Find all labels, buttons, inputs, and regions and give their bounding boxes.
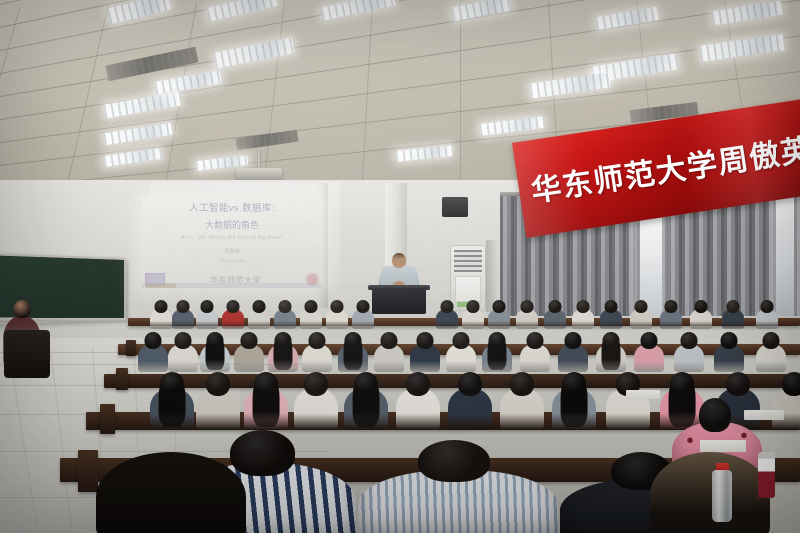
audience-head [577,300,590,313]
audience-head [562,372,586,396]
audience-head [763,332,780,349]
ceiling-light-panel [213,38,295,69]
audience-member [172,300,194,333]
slide-author: 周傲英 [224,248,240,255]
audience-head [241,332,258,349]
audience-head [467,300,480,313]
slide-author-english: Zhou Aoying [219,258,245,263]
lectern [372,288,426,314]
audience-member [268,332,298,377]
audience-head [201,300,214,313]
chair-silhouette [4,330,50,378]
audience-member [500,372,544,438]
audience-head [227,300,240,313]
audience-head [331,300,344,313]
audience-head [727,300,740,313]
audience-member [150,300,172,333]
paper-sheet [700,440,746,452]
audience-member [772,372,800,438]
audience-head [670,372,694,396]
ceiling-light-panel [320,0,395,21]
audience-member [248,300,270,333]
audience-head [160,372,184,396]
audience-head [521,300,534,313]
ceiling-light-panel [206,0,277,22]
audience-member [572,300,594,333]
audience-member [196,372,240,438]
audience-head [681,332,698,349]
audience-head [254,372,278,396]
audience-member [446,332,476,377]
ceiling-grid-line [360,0,373,210]
foreground-long-hair [96,452,246,533]
audience-head [493,300,506,313]
audience-head [206,372,230,396]
ceiling-light-panel [103,92,180,119]
ac-control-panel [455,276,481,302]
paper-sheet [744,410,784,420]
audience-head [605,300,618,313]
desk-side-panel [100,404,115,434]
audience-member [462,300,484,333]
audience-head [641,332,658,349]
audience-head [309,332,326,349]
audience-member [756,300,778,333]
ceiling-light-panel [107,0,171,24]
audience-member [244,372,288,438]
ceiling-light-panel [699,34,784,62]
banner-text: 华东师范大学周傲英教授学术报告 [528,124,800,210]
audience-head [510,372,534,396]
audience-head [761,300,774,313]
audience-member [482,332,512,377]
ceiling-grid-line [460,0,461,210]
audience-member [674,332,704,377]
audience-member [150,372,194,438]
audience-member [168,332,198,377]
audience-head [145,332,162,349]
audience-head [565,332,582,349]
audience-member [436,300,458,333]
audience-member [294,372,338,438]
slide-footer-tab [146,283,176,288]
audience-head [417,332,434,349]
audience-member [722,300,744,333]
audience-head [458,372,482,396]
slide-subtitle: 大数据的角色 [205,218,259,231]
audience-head [635,300,648,313]
audience-head [603,332,620,349]
attendee-head [14,300,31,318]
audience-head [305,300,318,313]
slide-title: 人工智能vs.数据库: [189,203,275,216]
audience-member [516,300,538,333]
attendee-head [418,440,490,482]
audience-head [527,332,544,349]
audience-head [489,332,506,349]
slide-title-english: AI vs. DB: What's the Role of Big Data? [181,235,283,241]
audience-member [600,300,622,333]
attendee-head [230,430,295,476]
audience-head [665,300,678,313]
audience-member [326,300,348,333]
audience-member [410,332,440,377]
notebook [626,390,660,399]
audience-member [756,332,786,377]
juice-bottle-red [758,452,775,498]
audience-member [552,372,596,438]
audience-member [634,332,664,377]
audience-head [695,300,708,313]
ceiling-light-panel [711,1,782,26]
audience-head [726,372,750,396]
audience-member [234,332,264,377]
desk-side-panel [116,368,128,390]
attendee-head [699,398,731,432]
audience-member [448,372,492,438]
audience-head [441,300,454,313]
audience-head [175,332,192,349]
audience-member [630,300,652,333]
audience-head [782,372,800,396]
audience-member [300,300,322,333]
audience-member [714,332,744,377]
audience-head [253,300,266,313]
desk-side-panel [78,450,98,492]
audience-member [200,332,230,377]
audience-head [453,332,470,349]
audience-head [721,332,738,349]
fg-striped-white [358,440,558,533]
wall-speaker-icon [442,197,468,217]
desk-side-panel [126,340,136,356]
audience-member [544,300,566,333]
audience-head [155,300,168,313]
audience-head [177,300,190,313]
audience-member [606,372,650,438]
audience-member [222,300,244,333]
audience-head [304,372,328,396]
window-light-gap [776,196,794,316]
audience-head [345,332,362,349]
audience-member [374,332,404,377]
lecturer-head [392,253,406,268]
ac-vent-grille [454,250,482,272]
audience-member [690,300,712,333]
projection-screen: 人工智能vs.数据库: 大数据的角色 AI vs. DB: What's the… [142,196,322,288]
audience-head [354,372,378,396]
audience-member [302,332,332,377]
audience-member [196,300,218,333]
audience-member [660,300,682,333]
foreground-long-hair [650,452,770,533]
lecture-hall-photo: 华东师范大学周傲英教授学术报告 人工智能vs.数据库: 大数据的角色 AI vs… [0,0,800,533]
audience-member [344,372,388,438]
ceiling-light-panel [595,7,658,31]
audience-member [520,332,550,377]
audience-head [549,300,562,313]
audience-head [381,332,398,349]
audience-head [357,300,370,313]
audience-head [279,300,292,313]
audience-member [488,300,510,333]
audience-head [406,372,430,396]
audience-member [596,332,626,377]
audience-member [352,300,374,333]
water-bottle-clear [712,470,732,522]
audience-head [207,332,224,349]
audience-head [275,332,292,349]
audience-member [274,300,296,333]
audience-member [558,332,588,377]
audience-member [338,332,368,377]
audience-member [396,372,440,438]
audience-member [138,332,168,377]
